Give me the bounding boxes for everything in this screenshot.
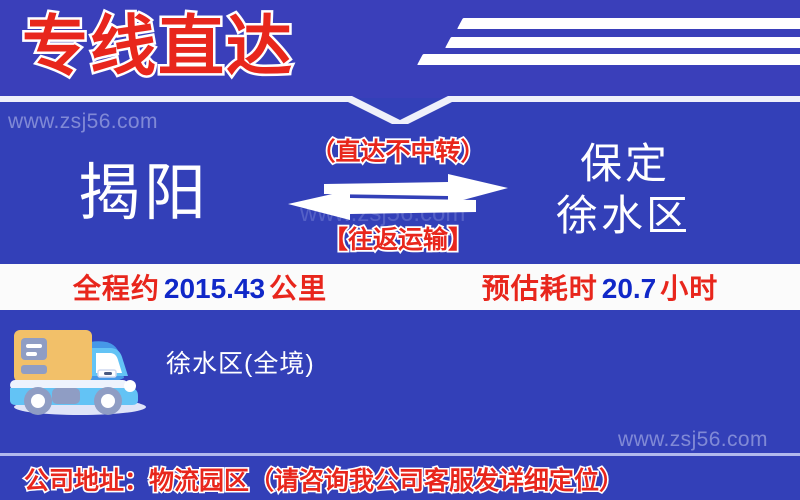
distance-info: 全程约2015.43公里 <box>0 267 400 307</box>
route-info-bar: 全程约2015.43公里 预估耗时20.7小时 <box>0 264 800 310</box>
header-band: 专线直达 <box>0 0 800 98</box>
duration-info: 预估耗时20.7小时 <box>400 267 800 307</box>
service-coverage-label: 徐水区(全境) <box>166 344 315 380</box>
distance-label-suffix: 公里 <box>269 273 327 304</box>
speed-stripe-icon <box>417 54 800 65</box>
duration-label-suffix: 小时 <box>660 273 718 304</box>
delivery-truck-icon <box>4 312 156 416</box>
destination-district-label: 徐水区 <box>556 190 691 242</box>
duration-value: 20.7 <box>598 273 661 304</box>
speed-stripe-icon <box>457 18 800 29</box>
bidirectional-arrow-icon <box>280 174 516 222</box>
roundtrip-badge: 【往返运输】 <box>280 224 516 256</box>
distance-value: 2015.43 <box>160 273 269 304</box>
duration-label-prefix: 预估耗时 <box>482 273 598 304</box>
route-center-stack: （直达不中转） 【往返运输】 <box>280 136 516 256</box>
company-address-text: 公司地址：物流园区（请咨询我公司客服发详细定位） <box>24 461 624 497</box>
shipping-route-banner: 专线直达 www.zsj56.com www.zsj56.com www.zsj… <box>0 0 800 500</box>
speed-stripe-icon <box>445 37 800 48</box>
origin-city-label: 揭阳 <box>78 158 210 230</box>
direct-service-badge: （直达不中转） <box>280 136 516 168</box>
watermark-bottom: www.zsj56.com <box>618 428 768 452</box>
headline-title: 专线直达 <box>22 4 294 88</box>
distance-label-prefix: 全程约 <box>73 273 160 304</box>
destination-block: 保定 徐水区 <box>556 138 691 242</box>
destination-city-label: 保定 <box>556 138 691 190</box>
watermark-top: www.zsj56.com <box>8 110 158 134</box>
